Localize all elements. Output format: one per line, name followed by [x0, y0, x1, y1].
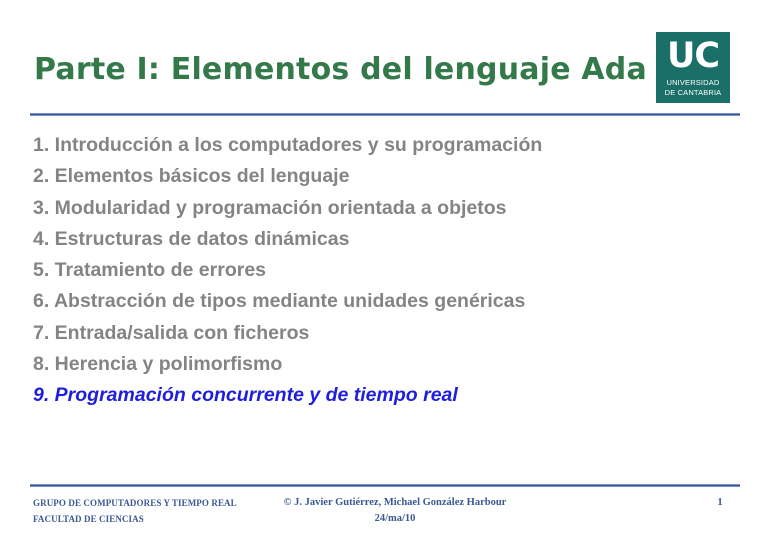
footer-divider [30, 484, 740, 487]
slide-footer: GRUPO DE COMPUTADORES Y TIEMPO REAL FACU… [0, 489, 768, 543]
list-item[interactable]: 3. Modularidad y programación orientada … [33, 193, 733, 224]
list-item[interactable]: 2. Elementos básicos del lenguaje [33, 161, 733, 192]
page-title: Parte I: Elementos del lenguaje Ada [34, 50, 644, 90]
list-item[interactable]: 6. Abstracción de tipos mediante unidade… [33, 286, 733, 317]
footer-date: 24/ma/10 [375, 513, 416, 524]
footer-page-number: 1 [700, 495, 740, 511]
uc-logo-subtitle-line1: UNIVERSIDAD [667, 78, 720, 87]
list-item[interactable]: 1. Introducción a los computadores y su … [33, 130, 733, 161]
list-item-current[interactable]: 9. Programación concurrente y de tiempo … [33, 380, 733, 411]
slide: Parte I: Elementos del lenguaje Ada UC U… [0, 0, 768, 543]
header-divider [30, 113, 740, 116]
uc-logo-subtitle-line2: DE CANTABRIA [665, 88, 722, 97]
list-item[interactable]: 5. Tratamiento de errores [33, 255, 733, 286]
outline-list: 1. Introducción a los computadores y su … [33, 130, 733, 412]
slide-header: Parte I: Elementos del lenguaje Ada UC U… [0, 0, 768, 118]
list-item[interactable]: 7. Entrada/salida con ficheros [33, 318, 733, 349]
uc-logo-mark: UC [667, 37, 719, 75]
footer-affiliation-line2: FACULTAD DE CIENCIAS [33, 514, 144, 524]
footer-copyright: © J. Javier Gutiérrez, Michael González … [230, 495, 560, 527]
uc-logo: UC UNIVERSIDAD DE CANTABRIA [656, 32, 730, 103]
list-item[interactable]: 8. Herencia y polimorfismo [33, 349, 733, 380]
uc-logo-subtitle: UNIVERSIDAD DE CANTABRIA [665, 78, 722, 97]
footer-copyright-authors: © J. Javier Gutiérrez, Michael González … [284, 497, 507, 508]
footer-affiliation-line1: GRUPO DE COMPUTADORES Y TIEMPO REAL [33, 498, 237, 508]
list-item[interactable]: 4. Estructuras de datos dinámicas [33, 224, 733, 255]
